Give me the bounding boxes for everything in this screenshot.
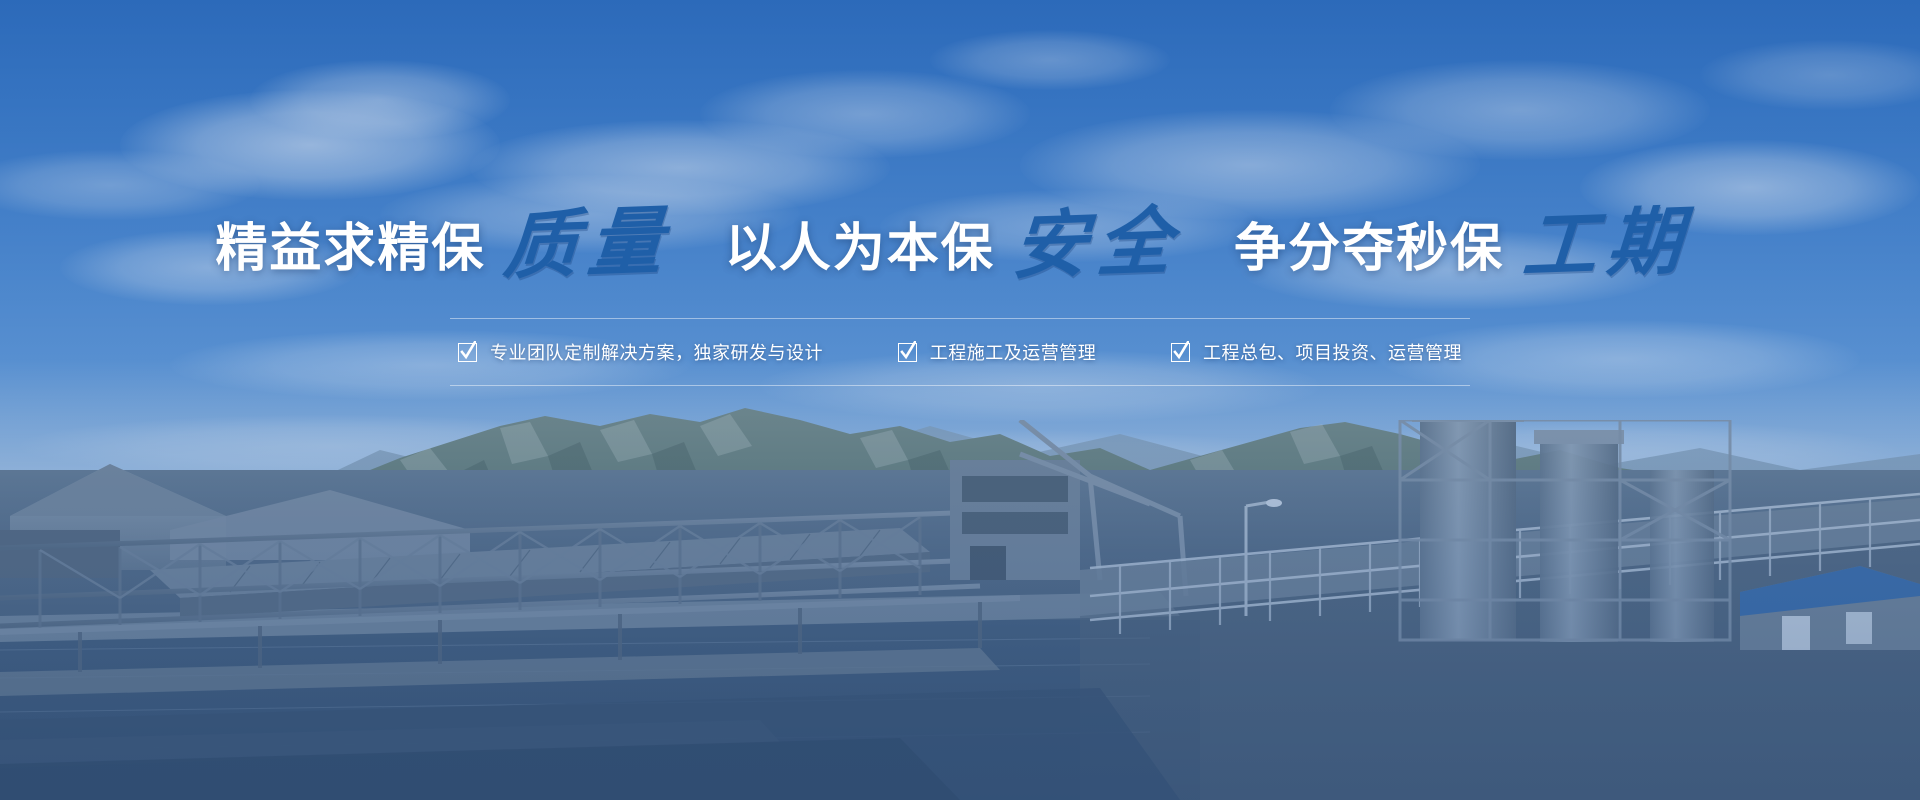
feature-item-solutions: 专业团队定制解决方案，独家研发与设计 [458, 339, 823, 365]
headline-calligraphy-schedule: 工期 [1520, 205, 1694, 285]
checkbox-checked-icon [898, 343, 917, 362]
feature-item-epc: 工程总包、项目投资、运营管理 [1171, 339, 1462, 365]
feature-label: 工程总包、项目投资、运营管理 [1203, 339, 1462, 365]
checkbox-checked-icon [1171, 343, 1190, 362]
checkbox-checked-icon [458, 343, 477, 362]
hero-banner: 精益求精保 质量 以人为本保 安全 争分夺秒保 工期 专业团队定制解决方案，独家… [0, 0, 1920, 800]
feature-item-construction: 工程施工及运营管理 [898, 339, 1097, 365]
headline-calligraphy-safety: 安全 [1010, 205, 1184, 285]
headline-segment-quality-prefix: 精益求精保 [215, 223, 485, 275]
feature-label: 工程施工及运营管理 [930, 339, 1097, 365]
headline: 精益求精保 质量 以人为本保 安全 争分夺秒保 工期 [0, 212, 1920, 286]
feature-label: 专业团队定制解决方案，独家研发与设计 [490, 339, 823, 365]
headline-calligraphy-quality: 质量 [501, 205, 675, 285]
banner-text-overlay: 精益求精保 质量 以人为本保 安全 争分夺秒保 工期 专业团队定制解决方案，独家… [0, 0, 1920, 800]
feature-list: 专业团队定制解决方案，独家研发与设计 工程施工及运营管理 工程总包、项目投资、运… [450, 318, 1470, 386]
headline-segment-safety-prefix: 以人为本保 [725, 223, 995, 275]
headline-segment-schedule-prefix: 争分夺秒保 [1234, 223, 1504, 275]
